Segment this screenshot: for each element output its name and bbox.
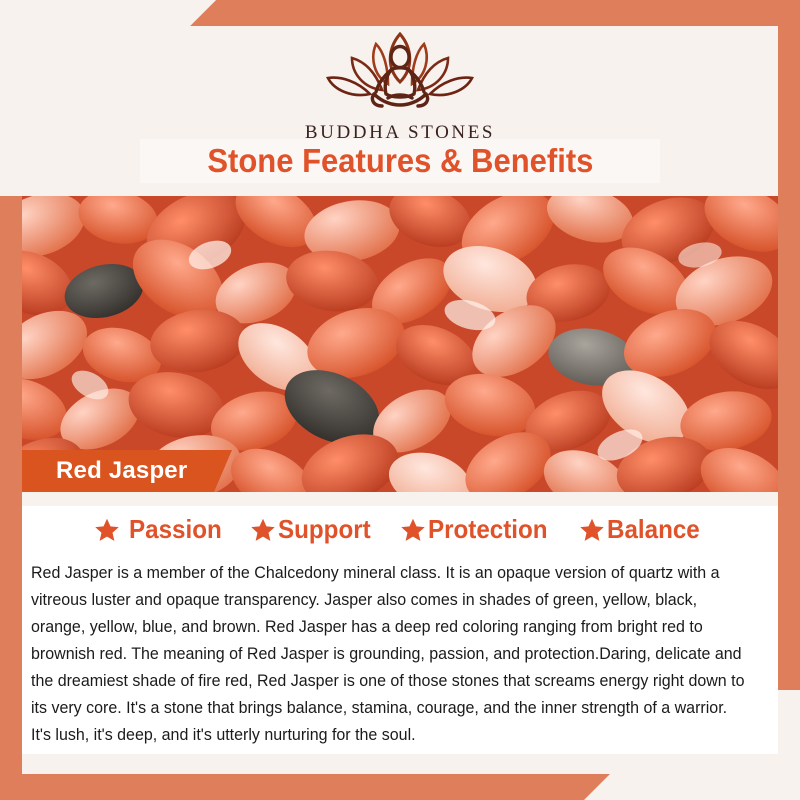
star-icon (579, 517, 605, 543)
frame-band-bottom (0, 774, 800, 800)
benefit-item-balance: Balance (579, 514, 707, 545)
poster-header: BUDDHA STONES Stone Features & Benefits (0, 0, 800, 196)
frame-band-right (778, 0, 800, 690)
lotus-buddha-meditation-icon (308, 24, 492, 120)
benefit-label: Protection (428, 514, 548, 545)
star-icon (94, 517, 120, 543)
panel-top-fade (22, 492, 778, 506)
benefits-row: Passion Support Protection Balance (22, 514, 778, 545)
benefit-item-support: Support (250, 514, 378, 545)
benefit-label: Passion (129, 514, 222, 545)
stone-description: Red Jasper is a member of the Chalcedony… (31, 560, 749, 749)
benefit-item-protection: Protection (400, 514, 557, 545)
star-icon (400, 517, 426, 543)
stone-name-banner: Red Jasper (22, 450, 232, 492)
hero-stone-photo (0, 195, 800, 492)
star-icon (250, 517, 276, 543)
page-title: Stone Features & Benefits (207, 142, 593, 180)
stone-info-poster: Passion Support Protection Balance (0, 0, 800, 800)
content-panel: Passion Support Protection Balance (22, 492, 778, 754)
benefit-label: Balance (607, 514, 700, 545)
frame-band-left (0, 100, 22, 800)
benefit-label: Support (278, 514, 371, 545)
page-title-bar: Stone Features & Benefits (140, 139, 660, 183)
stone-name-label: Red Jasper (56, 457, 187, 485)
brand-logo: BUDDHA STONES (0, 24, 800, 144)
benefit-item-passion: Passion (94, 514, 229, 545)
